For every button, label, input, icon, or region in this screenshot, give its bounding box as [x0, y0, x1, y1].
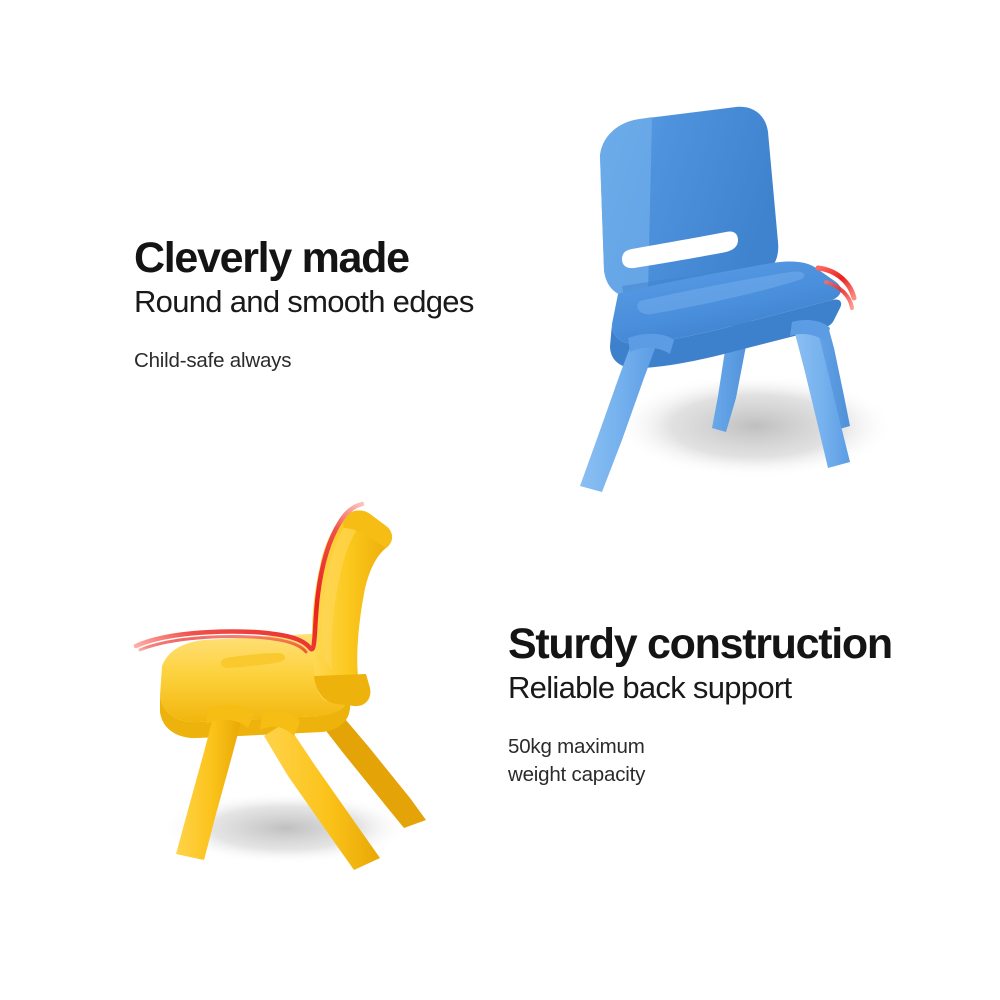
infographic-canvas: Cleverly made Round and smooth edges Chi…	[0, 0, 1000, 1000]
chair-shadow	[615, 374, 895, 478]
feature-block-sturdy-construction: Sturdy construction Reliable back suppor…	[508, 622, 892, 789]
feature-heading: Sturdy construction	[508, 622, 892, 667]
feature-block-cleverly-made: Cleverly made Round and smooth edges Chi…	[134, 236, 474, 375]
feature-detail: Child-safe always	[134, 347, 474, 375]
feature-heading: Cleverly made	[134, 236, 474, 281]
feature-detail: 50kg maximum weight capacity	[508, 733, 892, 788]
feature-detail-line: weight capacity	[508, 761, 892, 789]
feature-detail-line: 50kg maximum	[508, 733, 892, 761]
feature-subheading: Reliable back support	[508, 671, 892, 706]
feature-detail-line: Child-safe always	[134, 347, 474, 375]
feature-subheading: Round and smooth edges	[134, 285, 474, 320]
yellow-kids-chair-illustration	[118, 498, 448, 896]
chair-backrest	[312, 511, 392, 707]
blue-kids-chair-illustration	[540, 96, 970, 506]
